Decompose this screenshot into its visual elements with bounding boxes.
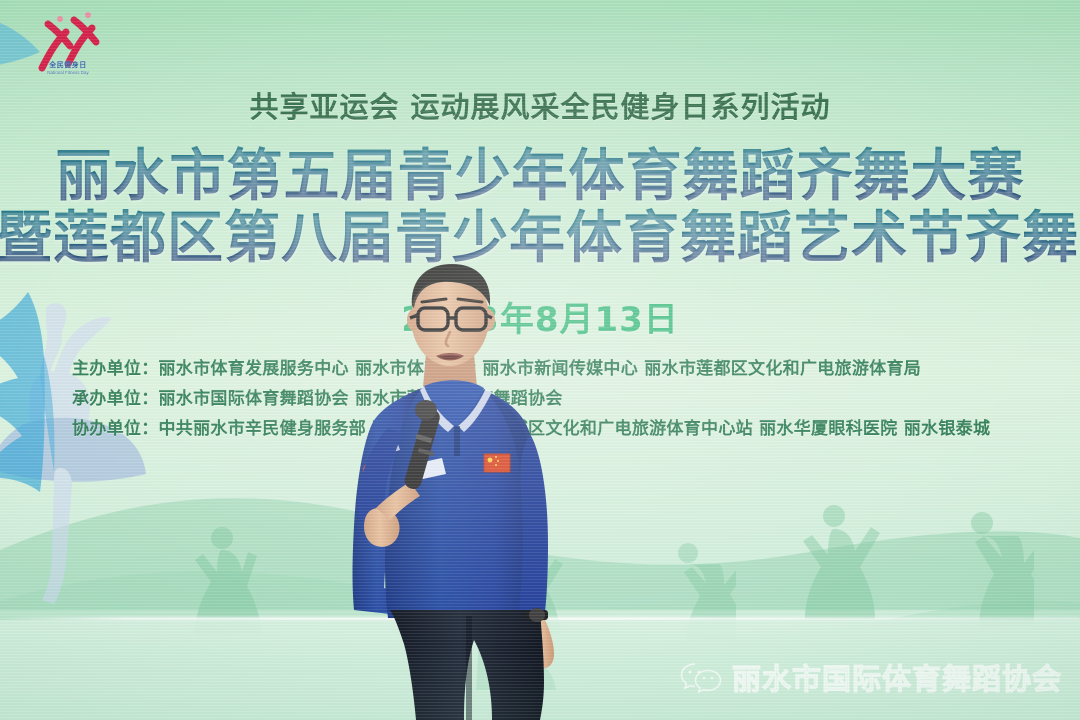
event-banner-photo: 全民健身日 National Fitness Day [0, 0, 1080, 720]
dancer-silhouette-5 [934, 506, 1034, 630]
watermark: 丽水市国际体育舞蹈协会 [680, 656, 1062, 698]
logo-caption: 全民健身日 National Fitness Day [20, 62, 116, 75]
speaker-person [318, 258, 618, 720]
banner-title-block: 丽水市第五届青少年体育舞蹈齐舞大赛 暨莲都区第八届青少年体育舞蹈艺术节齐舞大赛 [0, 146, 1080, 270]
watermark-text: 丽水市国际体育舞蹈协会 [732, 656, 1062, 698]
decorative-blue-leaf-left [0, 286, 98, 516]
banner-title-line-1: 丽水市第五届青少年体育舞蹈齐舞大赛 [0, 146, 1080, 208]
dancer-silhouette-4 [788, 498, 892, 628]
wechat-icon [680, 661, 722, 693]
banner-kicker: 共享亚运会 运动展风采全民健身日系列活动 [0, 84, 1080, 126]
